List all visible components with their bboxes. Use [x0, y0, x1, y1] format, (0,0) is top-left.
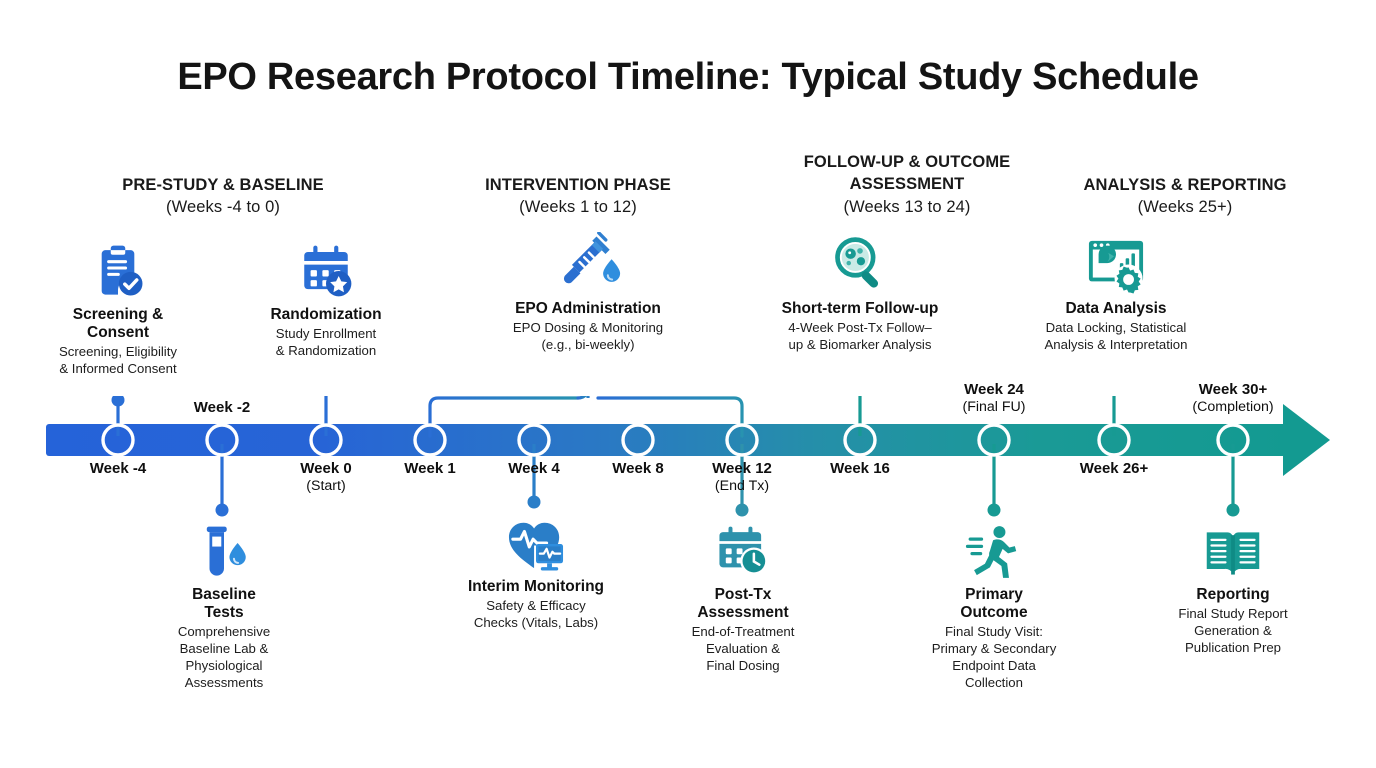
phase-range: (Weeks 25+) — [1035, 196, 1335, 218]
phase-name-line1: FOLLOW-UP & OUTCOME — [757, 151, 1057, 173]
milestone-description: 4-Week Post-Tx Follow– up & Biomarker An… — [754, 320, 966, 354]
open-book-icon — [1143, 518, 1323, 580]
phase-header-analysis: ANALYSIS & REPORTING (Weeks 25+) — [1035, 174, 1335, 219]
milestone-data-analysis[interactable]: Data Analysis Data Locking, Statistical … — [1010, 232, 1222, 354]
milestone-title: Randomization — [236, 306, 416, 324]
milestone-screening-consent[interactable]: Screening & Consent Screening, Eligibili… — [28, 238, 208, 378]
milestone-baseline-tests[interactable]: Baseline Tests Comprehensive Baseline La… — [134, 518, 314, 692]
tick-label-week--2: Week -2 — [152, 399, 292, 417]
milestone-title: Short-term Follow-up — [754, 300, 966, 318]
milestone-description: Final Study Report Generation & Publicat… — [1143, 606, 1323, 657]
milestone-description: End-of-Treatment Evaluation & Final Dosi… — [662, 624, 824, 675]
phase-name: PRE-STUDY & BASELINE — [63, 174, 383, 196]
tick-label-week-24: Week 24 (Final FU) — [924, 381, 1064, 416]
milestone-description: Study Enrollment & Randomization — [236, 326, 416, 360]
clipboard-check-icon — [28, 238, 208, 300]
phase-range: (Weeks -4 to 0) — [63, 196, 383, 218]
heart-monitor-icon — [438, 510, 634, 572]
milestone-short-term-follow-up[interactable]: Short-term Follow-up 4-Week Post-Tx Foll… — [754, 232, 966, 354]
phase-name: ANALYSIS & REPORTING — [1035, 174, 1335, 196]
calendar-star-icon — [236, 238, 416, 300]
milestone-randomization[interactable]: Randomization Study Enrollment & Randomi… — [236, 238, 416, 360]
phase-range: (Weeks 13 to 24) — [757, 196, 1057, 218]
magnifier-cells-icon — [754, 232, 966, 294]
timeline-diagram: EPO Research Protocol Timeline: Typical … — [0, 0, 1376, 768]
calendar-clock-icon — [662, 518, 824, 580]
milestone-title: Primary Outcome — [904, 586, 1084, 622]
syringe-drop-icon — [478, 232, 698, 294]
phase-header-intervention: INTERVENTION PHASE (Weeks 1 to 12) — [418, 174, 738, 219]
tick-label-week-30: Week 30+ (Completion) — [1163, 381, 1303, 416]
milestone-description: EPO Dosing & Monitoring (e.g., bi-weekly… — [478, 320, 698, 354]
milestone-description: Screening, Eligibility & Informed Consen… — [28, 344, 208, 378]
phase-name: INTERVENTION PHASE — [418, 174, 738, 196]
milestone-reporting[interactable]: Reporting Final Study Report Generation … — [1143, 518, 1323, 657]
tick-label-week-26: Week 26+ — [1044, 460, 1184, 478]
tick-label-week--4: Week -4 — [48, 460, 188, 478]
milestone-description: Comprehensive Baseline Lab & Physiologic… — [134, 624, 314, 692]
milestone-title: Baseline Tests — [134, 586, 314, 622]
milestone-title: Data Analysis — [1010, 300, 1222, 318]
dashboard-gear-icon — [1010, 232, 1222, 294]
milestone-interim-monitoring[interactable]: Interim Monitoring Safety & Efficacy Che… — [438, 510, 634, 632]
milestone-description: Final Study Visit: Primary & Secondary E… — [904, 624, 1084, 692]
milestone-title: Reporting — [1143, 586, 1323, 604]
phase-range: (Weeks 1 to 12) — [418, 196, 738, 218]
tick-label-week-16: Week 16 — [790, 460, 930, 478]
phase-header-follow-up: FOLLOW-UP & OUTCOME ASSESSMENT (Weeks 13… — [757, 151, 1057, 218]
milestone-title: Screening & Consent — [28, 306, 208, 342]
runner-icon — [904, 518, 1084, 580]
milestone-description: Safety & Efficacy Checks (Vitals, Labs) — [438, 598, 634, 632]
milestone-title: EPO Administration — [478, 300, 698, 318]
milestone-primary-outcome[interactable]: Primary Outcome Final Study Visit: Prima… — [904, 518, 1084, 692]
phase-header-pre-study: PRE-STUDY & BASELINE (Weeks -4 to 0) — [63, 174, 383, 219]
milestone-epo-administration[interactable]: EPO Administration EPO Dosing & Monitori… — [478, 232, 698, 354]
milestone-description: Data Locking, Statistical Analysis & Int… — [1010, 320, 1222, 354]
milestone-post-tx-assessment[interactable]: Post-Tx Assessment End-of-Treatment Eval… — [662, 518, 824, 675]
milestone-title: Interim Monitoring — [438, 578, 634, 596]
page-title: EPO Research Protocol Timeline: Typical … — [0, 56, 1376, 99]
test-tube-drop-icon — [134, 518, 314, 580]
milestone-title: Post-Tx Assessment — [662, 586, 824, 622]
phase-name-line2: ASSESSMENT — [757, 173, 1057, 195]
